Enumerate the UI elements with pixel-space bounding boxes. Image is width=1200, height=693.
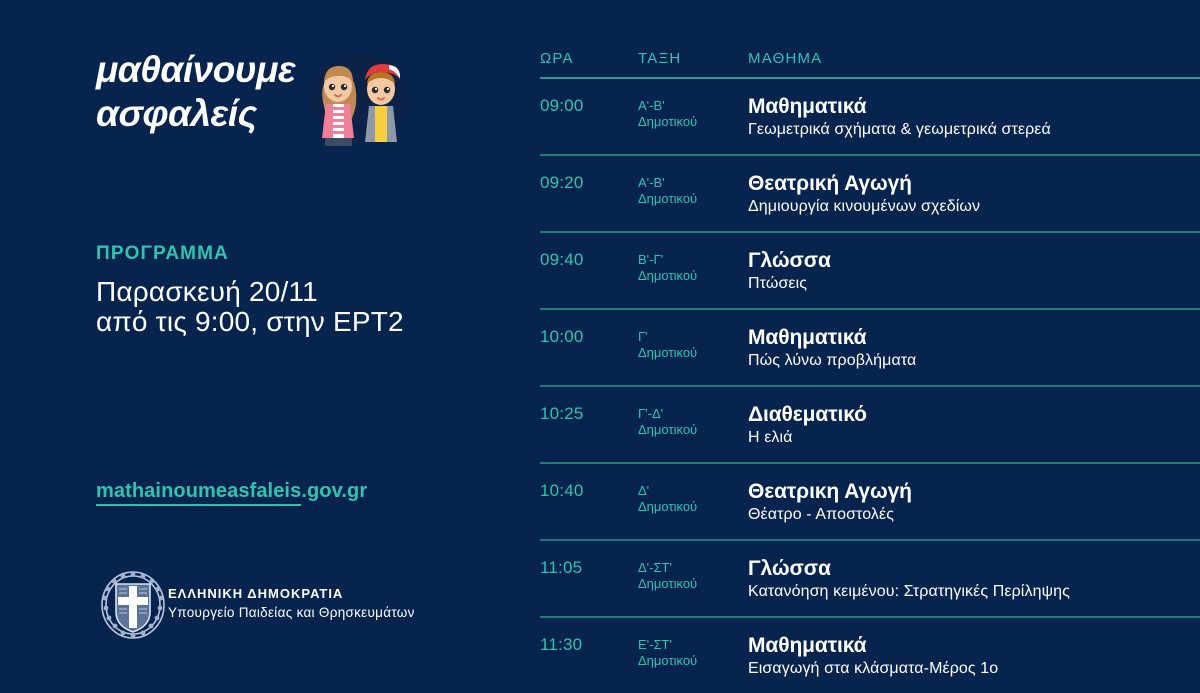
row-subject-title: Θεατρική Αγωγή: [748, 171, 1200, 196]
row-grade-sub: Δημοτικού: [638, 345, 748, 361]
row-grade: Δ'-ΣΤ'Δημοτικού: [638, 556, 748, 592]
row-grade: Α'-Β'Δημοτικού: [638, 94, 748, 130]
row-time: 10:40: [540, 479, 638, 501]
table-row[interactable]: 09:00Α'-Β'ΔημοτικούΜαθηματικάΓεωμετρικά …: [540, 79, 1200, 154]
row-time: 09:00: [540, 94, 638, 116]
row-grade: Γ'-Δ'Δημοτικού: [638, 402, 748, 438]
row-time: 11:30: [540, 633, 638, 655]
table-row[interactable]: 09:20Α'-Β'ΔημοτικούΘεατρική ΑγωγήΔημιουρ…: [540, 156, 1200, 231]
website-link-tld: .gov.gr: [301, 480, 367, 502]
row-grade: Γ'Δημοτικού: [638, 325, 748, 361]
row-grade-sub: Δημοτικού: [638, 653, 748, 669]
row-grade-sub: Δημοτικού: [638, 576, 748, 592]
two-children-illustration-icon: [301, 42, 413, 154]
table-row[interactable]: 10:25Γ'-Δ'ΔημοτικούΔιαθεματικόΗ ελιά: [540, 387, 1200, 462]
schedule-header-row: ΩΡΑ ΤΑΞΗ ΜΑΘΗΜΑ: [540, 50, 1200, 77]
row-subject: Θεατρικη ΑγωγήΘέατρο - Αποστολές: [748, 479, 1200, 525]
row-grade: Β'-Γ'Δημοτικού: [638, 248, 748, 284]
row-grade-main: Β'-Γ': [638, 252, 748, 268]
row-grade-main: Γ'-Δ': [638, 406, 748, 422]
row-grade-sub: Δημοτικού: [638, 191, 748, 207]
row-subject-title: Μαθηματικά: [748, 94, 1200, 119]
row-subject-subtitle: Θέατρο - Αποστολές: [748, 505, 1200, 525]
row-grade-main: Ε'-ΣΤ': [638, 637, 748, 653]
schedule-rows: 09:00Α'-Β'ΔημοτικούΜαθηματικάΓεωμετρικά …: [540, 77, 1200, 693]
row-grade-main: Γ': [638, 329, 748, 345]
table-row[interactable]: 11:05Δ'-ΣΤ'ΔημοτικούΓλώσσαΚατανόηση κειμ…: [540, 541, 1200, 616]
poster-canvas: μαθαίνουμε ασφαλείς: [0, 0, 1200, 675]
row-grade: Α'-Β'Δημοτικού: [638, 171, 748, 207]
row-grade-main: Α'-Β': [638, 98, 748, 114]
ministry-logo-block: ΕΛΛΗΝΙΚΗ ΔΗΜΟΚΡΑΤΙΑ Υπουργείο Παιδείας κ…: [98, 568, 458, 644]
row-time: 11:05: [540, 556, 638, 578]
row-time: 09:40: [540, 248, 638, 270]
row-subject-subtitle: Δημιουργία κινουμένων σχεδίων: [748, 197, 1200, 217]
column-header-time: ΩΡΑ: [540, 50, 638, 67]
row-subject-title: Γλώσσα: [748, 248, 1200, 273]
row-grade-main: Α'-Β': [638, 175, 748, 191]
row-subject-subtitle: Εισαγωγή στα κλάσματα-Μέρος 1ο: [748, 659, 1200, 679]
website-link[interactable]: mathainoumeasfaleis.gov.gr: [96, 480, 367, 503]
row-grade: Δ'Δημοτικού: [638, 479, 748, 515]
table-row[interactable]: 10:40Δ'ΔημοτικούΘεατρικη ΑγωγήΘέατρο - Α…: [540, 464, 1200, 539]
ministry-line-1: ΕΛΛΗΝΙΚΗ ΔΗΜΟΚΡΑΤΙΑ: [168, 586, 415, 601]
row-grade-sub: Δημοτικού: [638, 114, 748, 130]
row-subject: ΜαθηματικάΓεωμετρικά σχήματα & γεωμετρικ…: [748, 94, 1200, 140]
row-subject: ΓλώσσαΠτώσεις: [748, 248, 1200, 294]
row-subject-title: Γλώσσα: [748, 556, 1200, 581]
ministry-text: ΕΛΛΗΝΙΚΗ ΔΗΜΟΚΡΑΤΙΑ Υπουργείο Παιδείας κ…: [168, 586, 415, 620]
table-row[interactable]: 09:40Β'-Γ'ΔημοτικούΓλώσσαΠτώσεις: [540, 233, 1200, 308]
column-header-grade: ΤΑΞΗ: [638, 50, 748, 67]
ministry-line-2: Υπουργείο Παιδείας και Θρησκευμάτων: [168, 605, 415, 620]
row-subject-subtitle: Η ελιά: [748, 428, 1200, 448]
program-time-channel: από τις 9:00, στην ΕΡΤ2: [96, 306, 404, 338]
row-subject-title: Μαθηματικά: [748, 325, 1200, 350]
row-subject: ΓλώσσαΚατανόηση κειμένου: Στρατηγικές Πε…: [748, 556, 1200, 602]
row-subject-title: Διαθεματικό: [748, 402, 1200, 427]
row-grade-sub: Δημοτικού: [638, 499, 748, 515]
row-subject: ΜαθηματικάΕισαγωγή στα κλάσματα-Μέρος 1ο: [748, 633, 1200, 679]
row-grade-sub: Δημοτικού: [638, 268, 748, 284]
row-grade: Ε'-ΣΤ'Δημοτικού: [638, 633, 748, 669]
greek-coat-of-arms-icon: [98, 568, 168, 642]
row-time: 10:00: [540, 325, 638, 347]
program-label: ΠΡΟΓΡΑΜΜΑ: [96, 243, 229, 265]
row-subject: Θεατρική ΑγωγήΔημιουργία κινουμένων σχεδ…: [748, 171, 1200, 217]
row-subject-title: Μαθηματικά: [748, 633, 1200, 658]
row-subject-subtitle: Γεωμετρικά σχήματα & γεωμετρικά στερεά: [748, 120, 1200, 140]
brand-logo-text: μαθαίνουμε ασφαλείς: [96, 48, 295, 136]
row-subject: ΜαθηματικάΠώς λύνω προβλήματα: [748, 325, 1200, 371]
table-row[interactable]: 11:30Ε'-ΣΤ'ΔημοτικούΜαθηματικάΕισαγωγή σ…: [540, 618, 1200, 693]
row-grade-sub: Δημοτικού: [638, 422, 748, 438]
row-time: 10:25: [540, 402, 638, 424]
table-row[interactable]: 10:00Γ'ΔημοτικούΜαθηματικάΠώς λύνω προβλ…: [540, 310, 1200, 385]
program-date: Παρασκευή 20/11: [96, 276, 318, 308]
row-subject-subtitle: Πώς λύνω προβλήματα: [748, 351, 1200, 371]
website-link-underlined-part: mathainoumeasfaleis: [96, 480, 301, 506]
column-header-subject: ΜΑΘΗΜΑ: [748, 50, 1200, 67]
row-grade-main: Δ'-ΣΤ': [638, 560, 748, 576]
row-subject-subtitle: Πτώσεις: [748, 274, 1200, 294]
row-subject-subtitle: Κατανόηση κειμένου: Στρατηγικές Περίληψη…: [748, 582, 1200, 602]
row-subject-title: Θεατρικη Αγωγή: [748, 479, 1200, 504]
row-subject: ΔιαθεματικόΗ ελιά: [748, 402, 1200, 448]
row-time: 09:20: [540, 171, 638, 193]
row-grade-main: Δ': [638, 483, 748, 499]
schedule-table: ΩΡΑ ΤΑΞΗ ΜΑΘΗΜΑ 09:00Α'-Β'ΔημοτικούΜαθημ…: [540, 50, 1200, 693]
brand-block: μαθαίνουμε ασφαλείς: [96, 46, 416, 158]
left-panel: μαθαίνουμε ασφαλείς: [0, 0, 520, 675]
